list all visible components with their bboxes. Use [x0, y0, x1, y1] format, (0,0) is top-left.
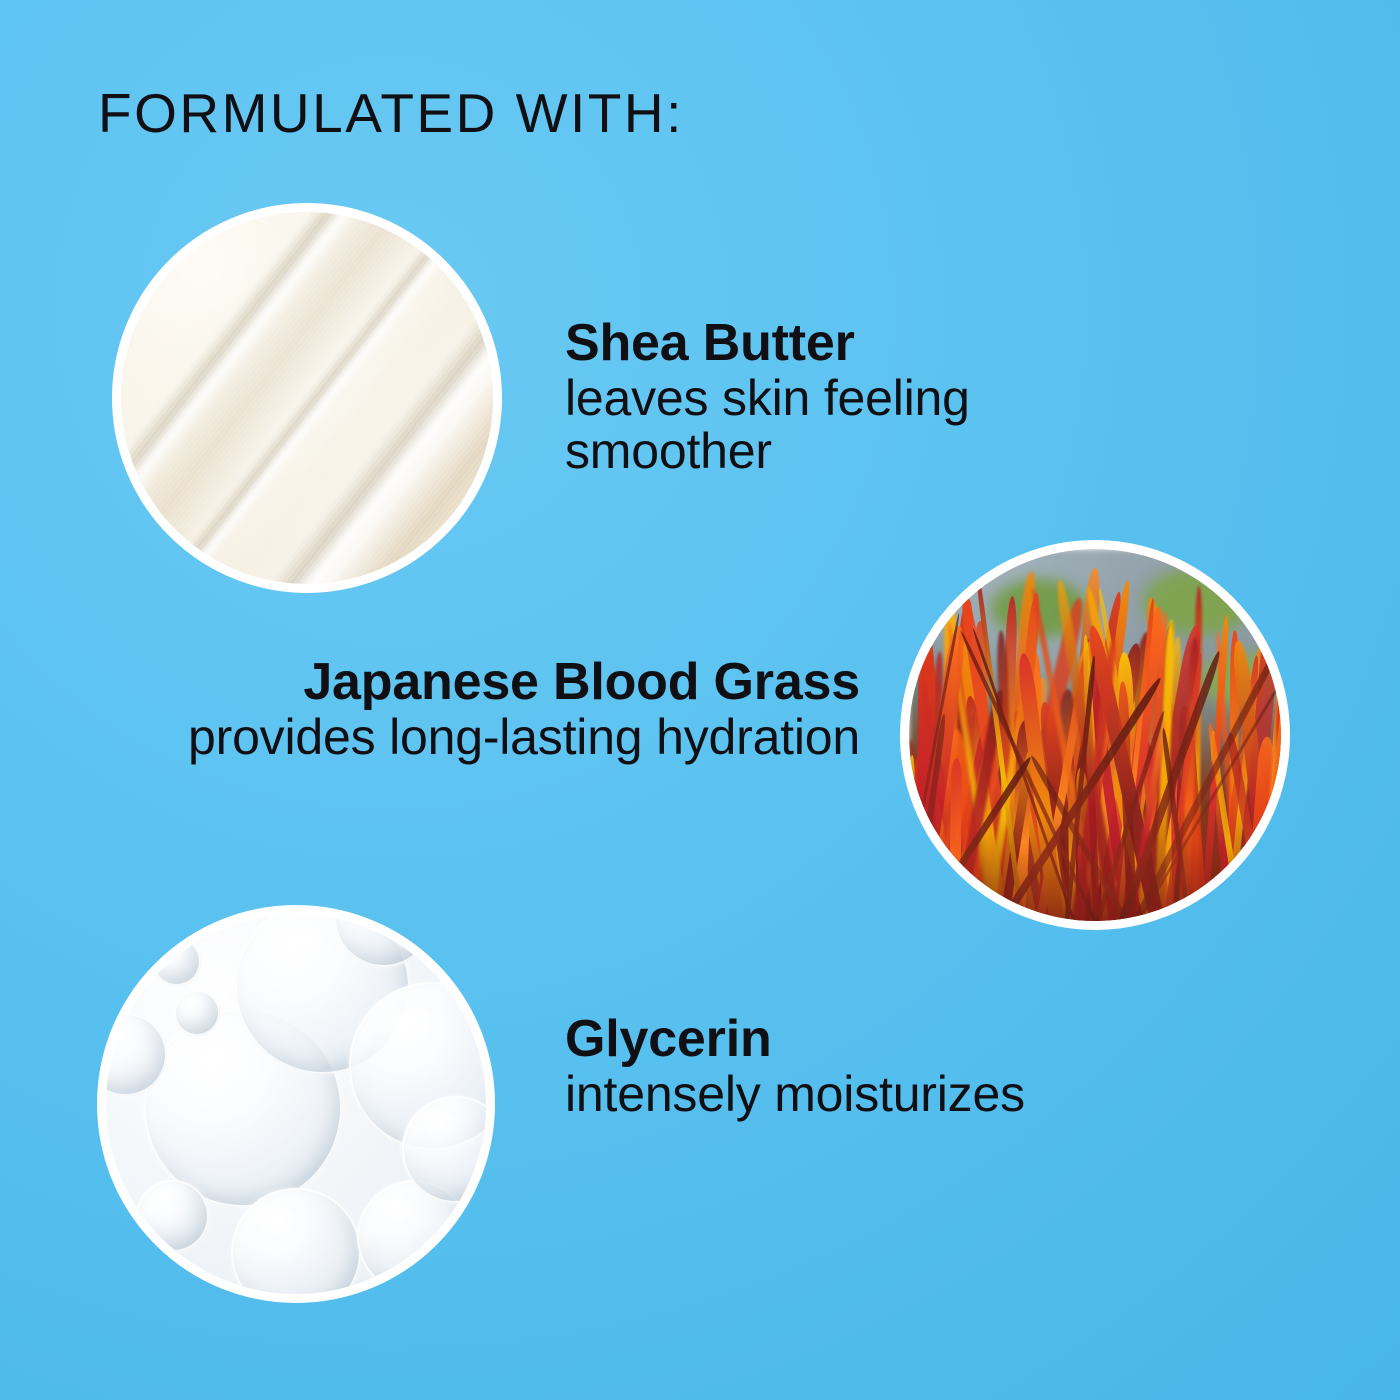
shea-grain-overlay [121, 212, 493, 584]
ingredient-name: Shea Butter [565, 316, 1165, 372]
glycerin-bubble [136, 1180, 208, 1252]
ingredient-text-japanese-blood-grass: Japanese Blood Grass provides long-lasti… [180, 655, 860, 764]
ingredient-description: intensely moisturizes [565, 1068, 1125, 1122]
ingredient-description: provides long-lasting hydration [180, 711, 860, 765]
ingredient-name: Japanese Blood Grass [180, 655, 860, 711]
page-title: FORMULATED WITH: [98, 86, 684, 141]
grass-image-clip [909, 549, 1281, 921]
glycerin-image-clip [106, 914, 486, 1294]
glycerin-bubbles-photo [97, 905, 495, 1303]
ingredient-name: Glycerin [565, 1012, 1125, 1068]
shea-butter-image-clip [121, 212, 493, 584]
ingredient-text-glycerin: Glycerin intensely moisturizes [565, 1012, 1125, 1121]
glycerin-bubble [174, 990, 220, 1036]
ingredient-infographic: FORMULATED WITH: Shea Butter leaves skin… [0, 0, 1400, 1400]
japanese-blood-grass-photo [900, 540, 1290, 930]
ingredient-text-shea-butter: Shea Butter leaves skin feeling smoother [565, 316, 1165, 479]
grass-blades [909, 549, 1281, 921]
glycerin-bubble [152, 937, 201, 986]
ingredient-description: leaves skin feeling smoother [565, 372, 1165, 479]
shea-butter-photo [112, 203, 502, 593]
